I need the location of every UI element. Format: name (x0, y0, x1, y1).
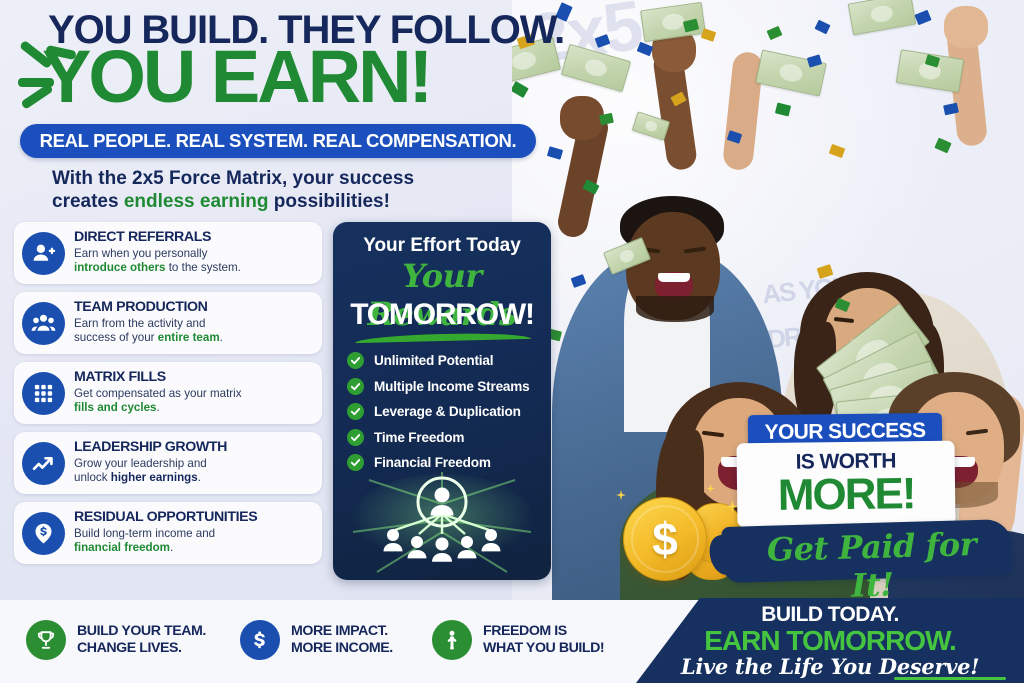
benefit-label: Multiple Income Streams (374, 379, 530, 394)
bottom-item-freedom[interactable]: FREEDOM IS WHAT YOU BUILD! (432, 620, 604, 660)
benefit-item: Time Freedom (347, 429, 543, 446)
subheadline-pre: creates (52, 191, 124, 212)
feature-title: DIRECT REFERRALS (74, 230, 314, 246)
trophy-icon (26, 620, 66, 660)
benefit-item: Leverage & Duplication (347, 403, 543, 420)
grid-dots-icon (22, 372, 65, 415)
cta-line-3: Live the Life You Deserve! (636, 654, 1024, 679)
feature-desc-bold: higher earnings (111, 471, 198, 484)
people-group-icon (22, 302, 65, 345)
benefit-list: Unlimited Potential Multiple Income Stre… (347, 352, 543, 480)
feature-title: MATRIX FILLS (74, 370, 314, 386)
feature-card-team-production[interactable]: TEAM PRODUCTION Earn from the activity a… (14, 292, 322, 354)
freedom-person-icon (432, 620, 472, 660)
success-badge-line-3: MORE! (778, 471, 915, 518)
feature-desc-line1: Build long-term income and (74, 527, 215, 540)
check-icon (347, 352, 364, 369)
feature-desc-highlight: entire team (158, 331, 220, 344)
feature-desc-line1: Get compensated as your matrix (74, 387, 242, 400)
rewards-panel: Your Effort Today Your Rewards TOMORROW!… (333, 222, 551, 580)
cta-line-1: BUILD TODAY. (636, 603, 1024, 627)
feature-card-direct-referrals[interactable]: DIRECT REFERRALS Earn when you personall… (14, 222, 322, 284)
benefit-item: Multiple Income Streams (347, 378, 543, 395)
tagline-text: REAL PEOPLE. REAL SYSTEM. REAL COMPENSAT… (40, 130, 517, 152)
feature-desc-pre: unlock (74, 471, 111, 484)
feature-desc-post: . (170, 541, 173, 554)
success-badge-body: IS WORTH MORE! (736, 441, 955, 528)
benefit-label: Financial Freedom (374, 455, 491, 470)
feature-card-list: DIRECT REFERRALS Earn when you personall… (14, 222, 322, 572)
feature-desc: Grow your leadership and unlock higher e… (74, 457, 314, 485)
tagline-ribbon: REAL PEOPLE. REAL SYSTEM. REAL COMPENSAT… (20, 124, 536, 158)
feature-desc: Earn from the activity and success of yo… (74, 317, 314, 345)
feature-desc-highlight: fills and cycles (74, 401, 157, 414)
feature-title: TEAM PRODUCTION (74, 300, 314, 316)
subheadline-line-2: creates endless earning possibilities! (52, 190, 414, 213)
headline-line-2: YOU EARN! (42, 40, 430, 114)
panel-underline (355, 332, 531, 343)
check-icon (347, 454, 364, 471)
bottom-item-line2: CHANGE LIVES. (77, 640, 206, 657)
growth-arrow-icon (22, 442, 65, 485)
bottom-item-more-impact[interactable]: MORE IMPACT. MORE INCOME. (240, 620, 393, 660)
network-hierarchy-icon (333, 472, 551, 576)
feature-desc-line1: Earn when you personally (74, 247, 207, 260)
subheadline-highlight: endless earning (124, 191, 269, 212)
feature-desc-line1: Grow your leadership and (74, 457, 207, 470)
bottom-item-line2: MORE INCOME. (291, 640, 393, 657)
coin-front: $ (623, 497, 707, 581)
feature-card-matrix-fills[interactable]: MATRIX FILLS Get compensated as your mat… (14, 362, 322, 424)
cta-underline (894, 677, 1006, 680)
dollar-pin-icon (22, 512, 65, 555)
bottom-item-build-your-team[interactable]: BUILD YOUR TEAM. CHANGE LIVES. (26, 620, 206, 660)
benefit-label: Leverage & Duplication (374, 404, 521, 419)
dollar-circle-icon (240, 620, 280, 660)
bottom-item-text: BUILD YOUR TEAM. CHANGE LIVES. (77, 623, 206, 658)
benefit-label: Time Freedom (374, 430, 464, 445)
feature-desc-pre: success of your (74, 331, 158, 344)
cta-line-2: EARN TOMORROW. (636, 625, 1024, 657)
feature-desc: Get compensated as your matrix fills and… (74, 387, 314, 415)
bottom-item-line1: BUILD YOUR TEAM. (77, 623, 206, 640)
check-icon (347, 403, 364, 420)
feature-card-residual-opportunities[interactable]: RESIDUAL OPPORTUNITIES Build long-term i… (14, 502, 322, 564)
check-icon (347, 378, 364, 395)
feature-desc-post: . (220, 331, 223, 344)
feature-card-leadership-growth[interactable]: LEADERSHIP GROWTH Grow your leadership a… (14, 432, 322, 494)
panel-line-1: Your Effort Today (333, 235, 551, 257)
feature-desc-post: . (157, 401, 160, 414)
feature-desc-post: . (198, 471, 201, 484)
feature-desc-highlight: financial freedom (74, 541, 170, 554)
bottom-item-line1: FREEDOM IS (483, 623, 604, 640)
panel-line-3: TOMORROW! (333, 298, 551, 332)
feature-desc-post: to the system. (165, 261, 240, 274)
benefit-item: Unlimited Potential (347, 352, 543, 369)
cta-block[interactable]: BUILD TODAY. EARN TOMORROW. Live the Lif… (636, 598, 1024, 683)
bottom-item-text: FREEDOM IS WHAT YOU BUILD! (483, 623, 604, 658)
subheadline-line-1: With the 2x5 Force Matrix, your success (52, 167, 414, 190)
subheadline: With the 2x5 Force Matrix, your success … (52, 167, 414, 213)
feature-desc: Build long-term income and financial fre… (74, 527, 314, 555)
bottom-item-line2: WHAT YOU BUILD! (483, 640, 604, 657)
user-plus-icon (22, 232, 65, 275)
coin-dollar-symbol: $ (652, 516, 678, 562)
promo-poster: 2x5 AS YOU DREAM NOW (0, 0, 1024, 683)
subheadline-post: possibilities! (269, 191, 390, 212)
benefit-item: Financial Freedom (347, 454, 543, 471)
feature-desc-highlight: introduce others (74, 261, 165, 274)
benefit-label: Unlimited Potential (374, 353, 493, 368)
check-icon (347, 429, 364, 446)
get-paid-script-text: Get Paid for It! (741, 524, 1003, 607)
bottom-item-text: MORE IMPACT. MORE INCOME. (291, 623, 393, 658)
feature-desc: Earn when you personally introduce other… (74, 247, 314, 275)
feature-desc-line1: Earn from the activity and (74, 317, 205, 330)
feature-title: LEADERSHIP GROWTH (74, 440, 314, 456)
bottom-item-line1: MORE IMPACT. (291, 623, 393, 640)
feature-title: RESIDUAL OPPORTUNITIES (74, 510, 314, 526)
